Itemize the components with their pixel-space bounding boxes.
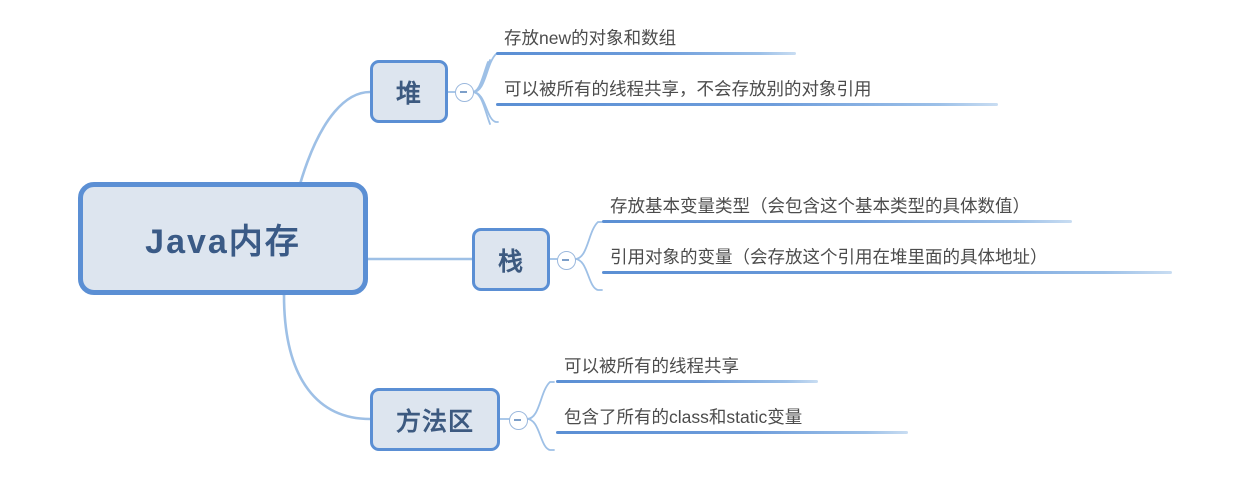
leaf-underline xyxy=(602,220,1072,223)
branch-node-method-area[interactable]: 方法区 xyxy=(370,388,500,451)
leaf-underline xyxy=(496,52,796,55)
branch-node-heap[interactable]: 堆 xyxy=(370,60,448,123)
leaf-item[interactable]: 可以被所有的线程共享，不会存放别的对象引用 xyxy=(496,78,998,106)
leaf-underline xyxy=(556,431,908,434)
leaf-underline xyxy=(602,271,1172,274)
leaf-text: 包含了所有的class和static变量 xyxy=(556,406,908,431)
root-node-label: Java内存 xyxy=(145,214,301,263)
leaf-underline xyxy=(496,103,998,106)
leaf-text: 可以被所有的线程共享 xyxy=(556,355,818,380)
leaf-item[interactable]: 存放new的对象和数组 xyxy=(496,27,796,55)
leaf-item[interactable]: 可以被所有的线程共享 xyxy=(556,355,818,383)
leaf-text: 引用对象的变量（会存放这个引用在堆里面的具体地址） xyxy=(602,246,1172,271)
collapse-minus-icon-heap[interactable] xyxy=(455,83,474,102)
mindmap-canvas: Java内存 堆 存放new的对象和数组 可以被所有的线程共享，不会存放别的对象… xyxy=(0,0,1246,477)
leaf-underline xyxy=(556,380,818,383)
leaf-item[interactable]: 存放基本变量类型（会包含这个基本类型的具体数值） xyxy=(602,195,1072,223)
branch-node-stack[interactable]: 栈 xyxy=(472,228,550,291)
leaf-item[interactable]: 包含了所有的class和static变量 xyxy=(556,406,908,434)
collapse-minus-icon-method-area[interactable] xyxy=(509,411,528,430)
branch-node-method-area-label: 方法区 xyxy=(396,402,474,438)
root-node-java-memory[interactable]: Java内存 xyxy=(78,182,368,295)
leaf-text: 存放基本变量类型（会包含这个基本类型的具体数值） xyxy=(602,195,1072,220)
leaf-text: 可以被所有的线程共享，不会存放别的对象引用 xyxy=(496,78,998,103)
collapse-minus-icon-stack[interactable] xyxy=(557,251,576,270)
branch-node-stack-label: 栈 xyxy=(498,242,524,278)
branch-node-heap-label: 堆 xyxy=(396,74,422,110)
leaf-item[interactable]: 引用对象的变量（会存放这个引用在堆里面的具体地址） xyxy=(602,246,1172,274)
leaf-text: 存放new的对象和数组 xyxy=(496,27,796,52)
